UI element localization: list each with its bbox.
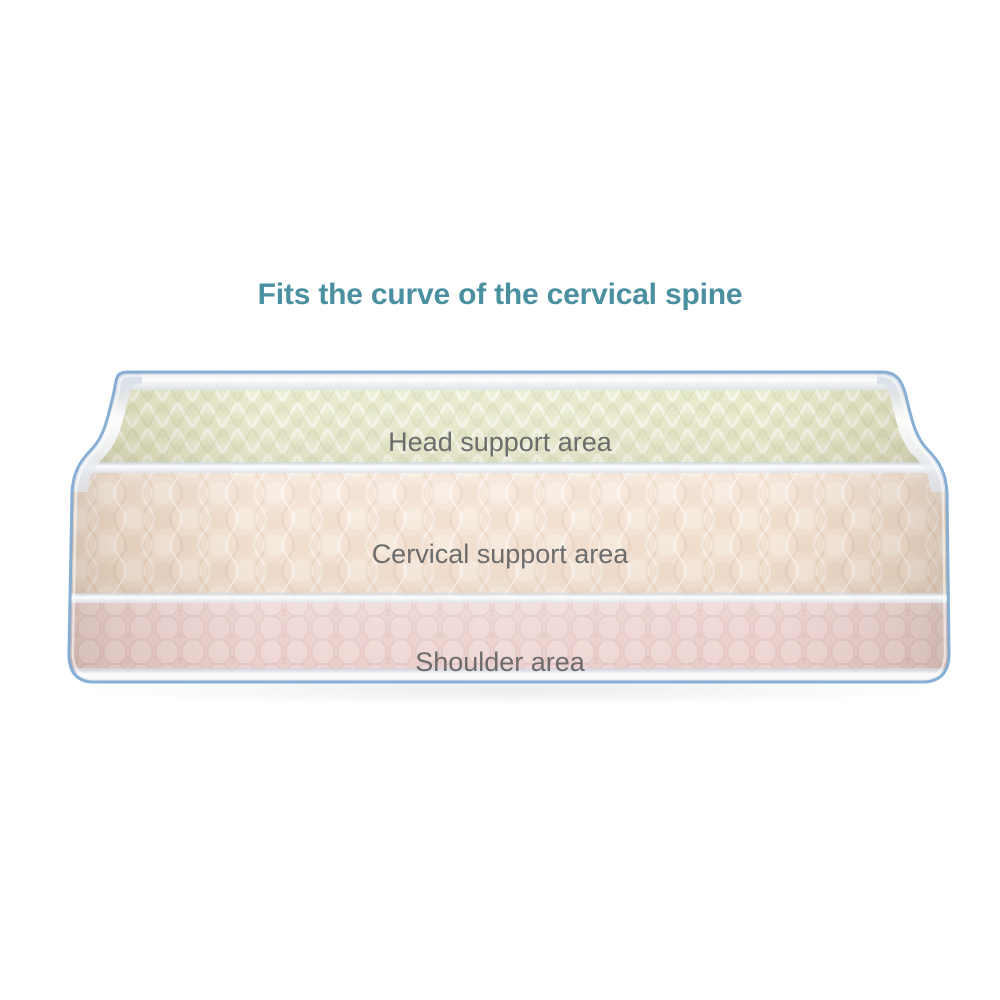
- top-piping-band: [110, 372, 900, 390]
- zone-cervical-support: [50, 468, 970, 600]
- seam-head-cervical: [50, 462, 970, 473]
- zone-label-head-support: Head support area: [0, 426, 1000, 458]
- page-title: Fits the curve of the cervical spine: [0, 273, 1000, 317]
- seam-cervical-shoulder: [50, 593, 970, 603]
- zone-label-shoulder: Shoulder area: [0, 646, 1000, 678]
- illustration-canvas: Fits the curve of the cervical spine: [0, 0, 1000, 1000]
- zone-label-cervical-support: Cervical support area: [0, 538, 1000, 570]
